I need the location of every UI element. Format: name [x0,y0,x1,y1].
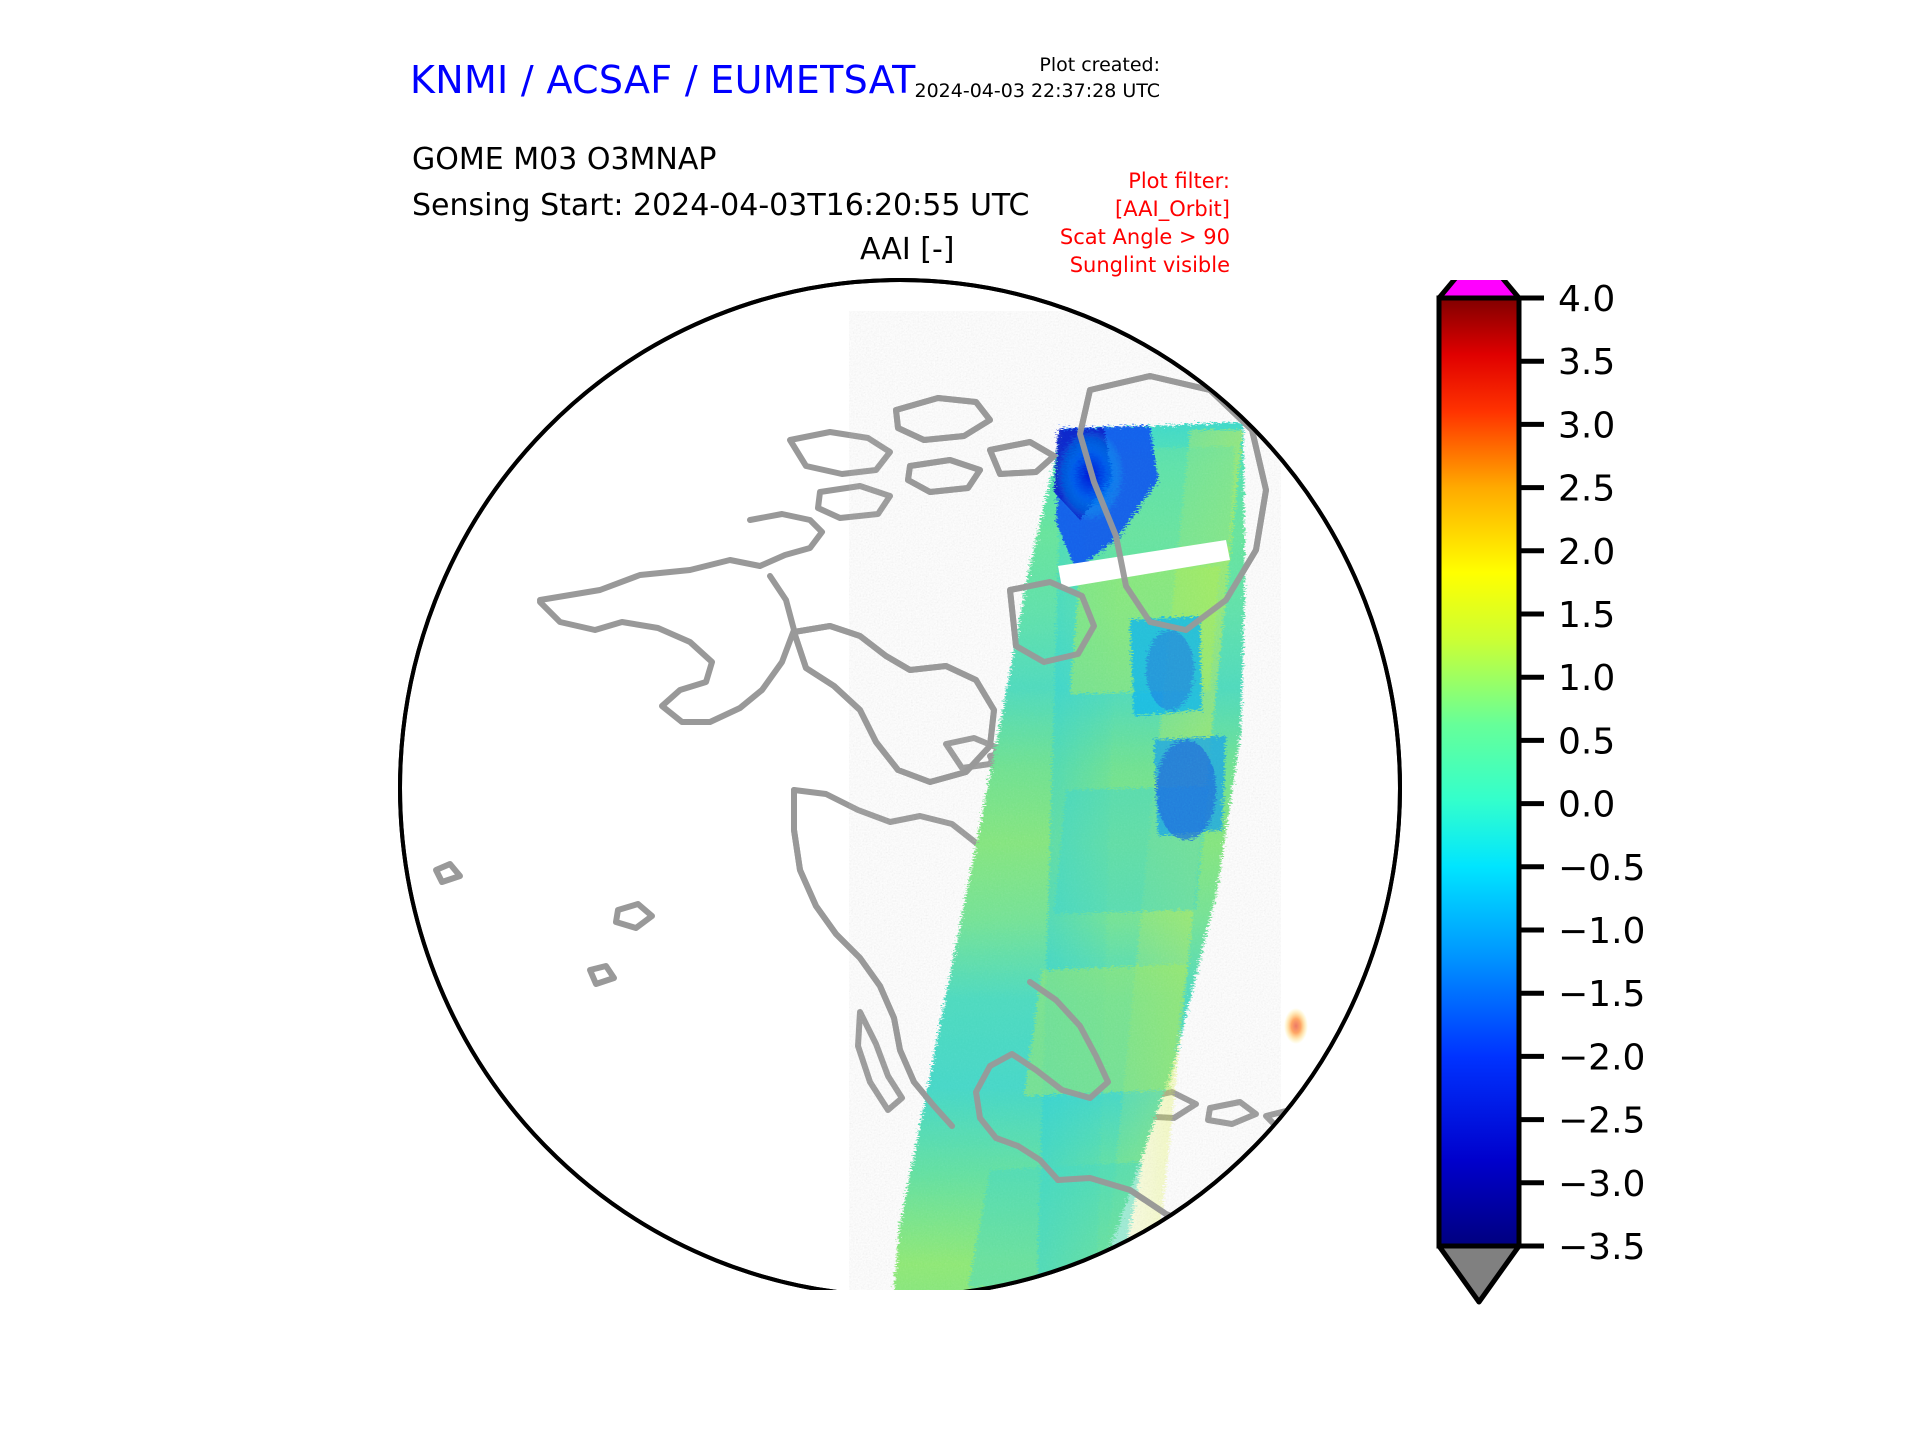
globe-plot [390,270,1410,1290]
product-title: GOME M03 O3MNAP [412,142,716,177]
colorbar-tick-label: 3.5 [1558,342,1615,383]
colorbar-tick-label: 2.0 [1558,532,1615,573]
plot-filter-name: [AAI_Orbit] [1060,196,1230,224]
colorbar-tick-label: 0.5 [1558,721,1615,762]
colorbar-gradient [1439,298,1519,1246]
plot-filter-label: Plot filter: [1060,168,1230,196]
organisation-title: KNMI / ACSAF / EUMETSAT [410,58,916,102]
sensing-start-label: Sensing Start: 2024-04-03T16:20:55 UTC [412,188,1029,223]
plot-created-block: Plot created: 2024-04-03 22:37:28 UTC [915,52,1161,104]
colorbar-tick-label: 1.5 [1558,595,1615,636]
colorbar-tick-label: −0.5 [1558,848,1645,889]
plot-created-label: Plot created: [915,52,1161,78]
colorbar-tick-label: −3.0 [1558,1164,1645,1205]
globe-map-panel [390,270,1410,1290]
colorbar-under-arrow [1439,1246,1519,1302]
colorbar-tick-label: −1.0 [1558,911,1645,952]
quantity-title: AAI [-] [860,232,955,267]
colorbar-over-arrow [1439,280,1519,298]
colorbar-tick-label: 3.0 [1558,405,1615,446]
colorbar-panel: 4.03.53.02.52.01.51.00.50.0−0.5−1.0−1.5−… [1432,280,1732,1310]
colorbar-tick-label: 2.5 [1558,469,1615,510]
colorbar-tick-label: 4.0 [1558,280,1615,320]
colorbar-tick-label: 1.0 [1558,658,1615,699]
colorbar-tick-label: −3.5 [1558,1227,1645,1268]
plot-created-timestamp: 2024-04-03 22:37:28 UTC [915,78,1161,104]
plot-filter-block: Plot filter: [AAI_Orbit] Scat Angle > 90… [1060,168,1230,280]
colorbar-tick-label: 0.0 [1558,785,1615,826]
colorbar-tick-label: −1.5 [1558,974,1645,1015]
plot-filter-condition: Scat Angle > 90 [1060,224,1230,252]
colorbar-tick-label: −2.0 [1558,1037,1645,1078]
colorbar-tick-label: −2.5 [1558,1101,1645,1142]
colorbar-ticks: 4.03.53.02.52.01.51.00.50.0−0.5−1.0−1.5−… [1519,280,1645,1268]
colorbar: 4.03.53.02.52.01.51.00.50.0−0.5−1.0−1.5−… [1432,280,1732,1310]
